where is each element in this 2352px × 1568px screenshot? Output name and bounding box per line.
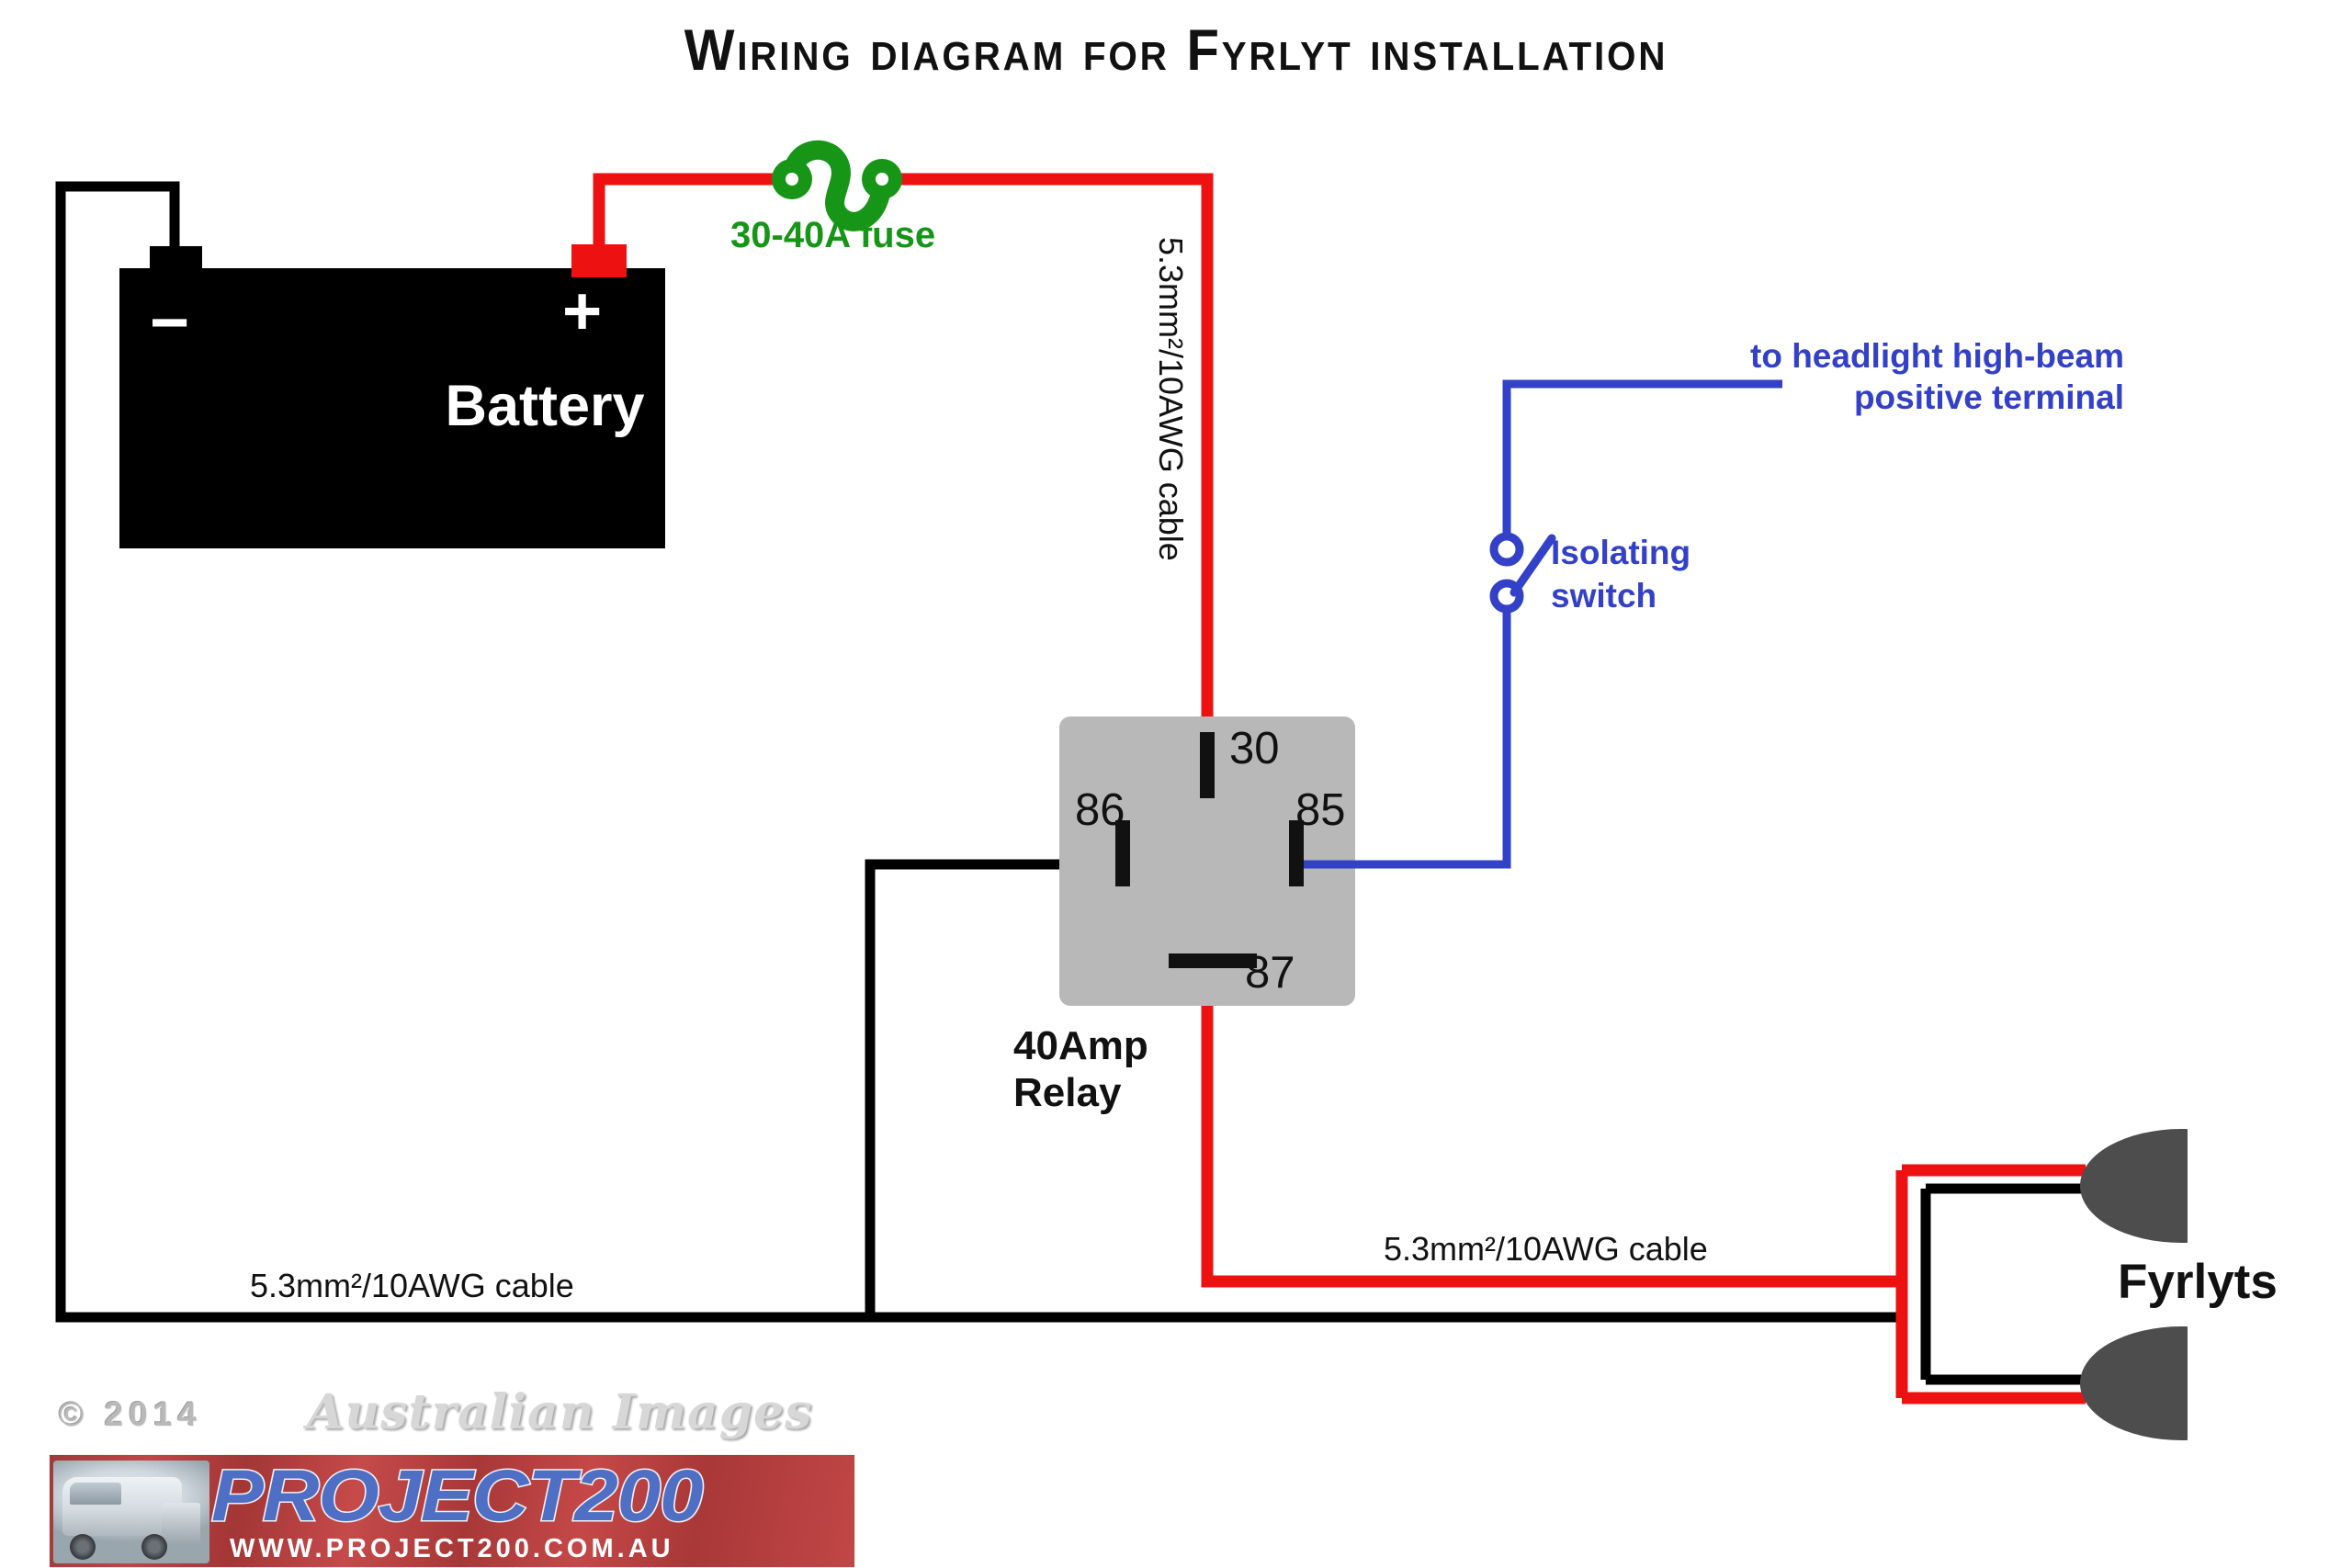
headlight-callout-line1: to headlight high-beam [1750,337,2124,375]
lamp-harness-ground [1926,1189,2086,1380]
relay-name-label: 40AmpRelay [1013,1022,1148,1116]
fuse-terminal-right-hole [876,173,888,186]
relay-pin-86-label: 86 [1075,787,1125,834]
lamps-label: Fyrlyts [2118,1257,2278,1308]
relay-name-line2: Relay [1013,1070,1121,1115]
isolating-switch-label-line1: Isolating [1551,534,1690,571]
project200-wordmark: PROJECT200 [211,1455,703,1538]
relay-pin-30-label: 30 [1229,726,1280,773]
project200-url: WWW.PROJECT200.COM.AU [230,1534,674,1564]
isolating-switch-label: Isolatingswitch [1551,531,1690,618]
isolating-switch-label-line2: switch [1551,577,1657,615]
fuse-label: 30-40A fuse [730,216,935,254]
diagram-canvas: Wiring diagram for Fyrlyt installation [0,0,2352,1568]
vehicle-wheel-rear [70,1534,96,1560]
relay-terminal-30 [1200,732,1215,798]
project200-logo: PROJECT200 WWW.PROJECT200.COM.AU [50,1455,854,1567]
battery-positive-symbol: + [562,276,602,347]
fuse-terminal-left-hole [786,173,798,186]
vehicle-bullbar [162,1503,200,1545]
copyright-text: © 2014 [59,1395,202,1434]
isolating-switch-terminal-top[interactable] [1494,536,1520,562]
relay-pin-87-label: 87 [1245,950,1295,997]
cable-label-ground-run: 5.3mm²/10AWG cable [250,1269,574,1303]
battery-negative-post [150,246,202,274]
battery-negative-symbol: − [150,287,189,358]
lamp-upper-mask [2188,1116,2352,1263]
trigger-wire-to-headlight [1507,384,1782,540]
headlight-callout: to headlight high-beampositive terminal [1750,335,2124,418]
wiring-schematic [0,0,2352,1568]
lamp-lower-mask [2188,1314,2352,1461]
lamp-lower-face [2181,1326,2187,1440]
cable-label-relay-to-lamps: 5.3mm²/10AWG cable [1384,1232,1708,1267]
headlight-callout-line2: positive terminal [1854,378,2124,416]
battery-label: Battery [269,376,820,436]
vehicle-photo [53,1461,209,1563]
studio-credit: Australian Images [307,1384,812,1440]
watermark: © 2014 Australian Images PROJECT200 WWW.… [50,1395,876,1568]
relay-pin-85-label: 85 [1295,787,1346,834]
vehicle-window [70,1483,121,1505]
vehicle-wheel-front [141,1534,167,1560]
cable-label-battery-to-relay: 5.3mm²/10AWG cable [1153,237,1188,561]
relay-name-line1: 40Amp [1013,1023,1148,1068]
relay-terminal-87 [1169,953,1257,968]
lamp-upper-face [2181,1129,2187,1243]
